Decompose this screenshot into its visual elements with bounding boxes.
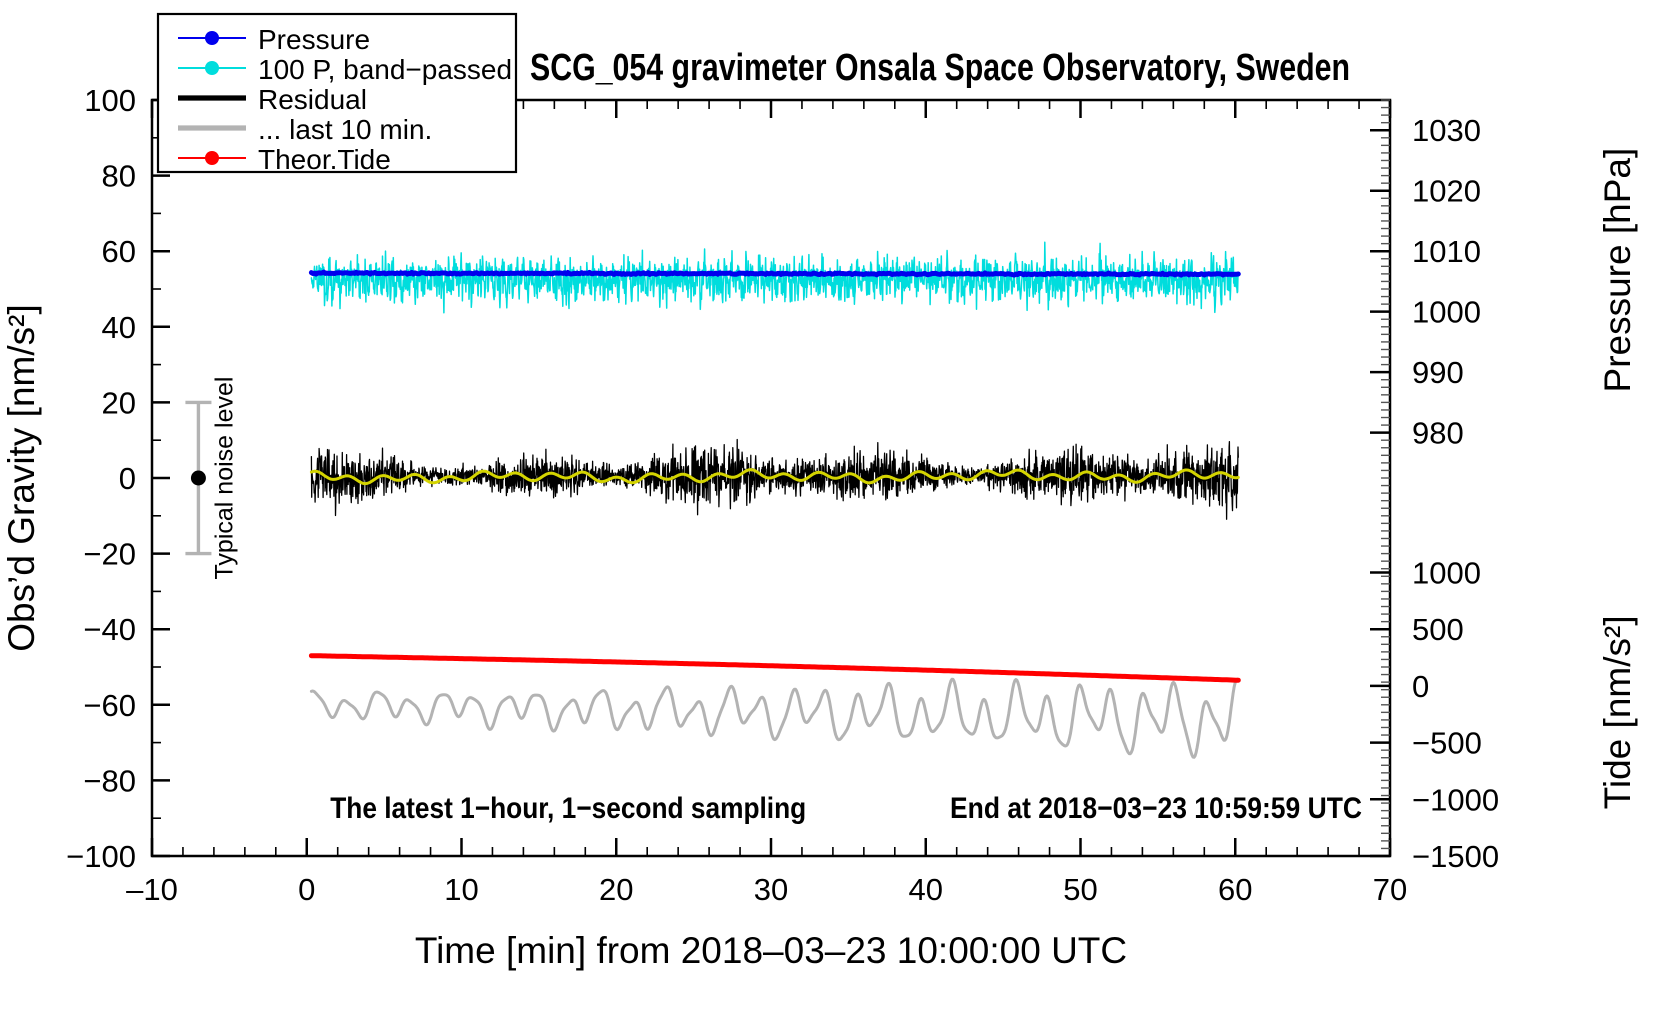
y-tick-label: −40	[83, 612, 136, 647]
noise-level-annotation: Typical noise level	[185, 377, 238, 580]
series-band-passed-pressure	[311, 242, 1238, 313]
y-axis-right: 103010201010100099098010005000−500−1000−…	[1370, 100, 1638, 874]
pressure-axis-label: Pressure [hPa]	[1597, 148, 1638, 393]
y-tick-label: 100	[84, 83, 136, 118]
tide-tick-label: −500	[1412, 726, 1482, 761]
tide-tick-label: −1000	[1412, 782, 1499, 817]
pressure-tick-label: 980	[1412, 416, 1464, 451]
legend-label: 100 P, band−passed	[258, 54, 512, 85]
series-last-10-min	[311, 679, 1238, 757]
x-tick-label: 60	[1218, 872, 1252, 907]
chart-figure: ‒10010203040506070Time [min] from 2018‒0…	[0, 0, 1660, 1020]
y-axis-label: Obs’d Gravity [nm/s²]	[1, 304, 42, 651]
x-tick-label: 30	[754, 872, 788, 907]
tide-tick-label: 1000	[1412, 556, 1481, 591]
y-tick-label: 60	[102, 234, 136, 269]
x-tick-label: 40	[909, 872, 943, 907]
noise-level-marker	[191, 471, 206, 486]
tide-axis-label: Tide [nm/s²]	[1597, 615, 1638, 809]
footnote-right: End at 2018−03−23 10:59:59 UTC	[950, 792, 1362, 825]
tide-tick-label: 0	[1412, 669, 1429, 704]
y-tick-label: −60	[83, 688, 136, 723]
x-tick-label: 20	[599, 872, 633, 907]
legend-label: Residual	[258, 84, 367, 115]
noise-level-label: Typical noise level	[210, 377, 238, 580]
x-tick-label: 70	[1373, 872, 1407, 907]
y-tick-label: 20	[102, 385, 136, 420]
y-tick-label: 0	[119, 461, 136, 496]
y-tick-label: 80	[102, 159, 136, 194]
footnote-left: The latest 1−hour, 1−second sampling	[330, 792, 806, 825]
pressure-tick-label: 1010	[1412, 234, 1481, 269]
y-tick-label: −80	[83, 763, 136, 798]
y-tick-label: −100	[66, 839, 136, 874]
legend-marker	[205, 31, 219, 45]
x-axis-label: Time [min] from 2018‒03‒23 10:00:00 UTC	[415, 930, 1127, 971]
tide-tick-label: 500	[1412, 612, 1464, 647]
gravimeter-timeseries-chart: ‒10010203040506070Time [min] from 2018‒0…	[0, 0, 1660, 1020]
pressure-tick-label: 990	[1412, 355, 1464, 390]
series-pressure	[311, 272, 1238, 275]
legend-label: ... last 10 min.	[258, 114, 432, 145]
legend-marker	[205, 61, 219, 75]
legend: Pressure100 P, band−passedResidual... la…	[158, 14, 516, 175]
x-tick-label: 0	[298, 872, 315, 907]
legend-marker	[205, 151, 219, 165]
y-tick-label: −20	[83, 537, 136, 572]
x-tick-label: 50	[1063, 872, 1097, 907]
legend-label: Theor.Tide	[258, 144, 391, 175]
pressure-tick-label: 1000	[1412, 295, 1481, 330]
x-tick-label: 10	[444, 872, 478, 907]
legend-label: Pressure	[258, 24, 370, 55]
series-theoretical-tide	[311, 656, 1238, 681]
tide-tick-label: −1500	[1412, 839, 1499, 874]
y-axis-left: −100−80−60−40−20020406080100Obs’d Gravit…	[1, 83, 170, 874]
pressure-tick-label: 1020	[1412, 174, 1481, 209]
x-tick-label: ‒10	[126, 872, 178, 907]
chart-title: SCG_054 gravimeter Onsala Space Observat…	[530, 47, 1350, 89]
y-tick-label: 40	[102, 310, 136, 345]
pressure-tick-label: 1030	[1412, 113, 1481, 148]
x-axis: ‒10010203040506070Time [min] from 2018‒0…	[126, 100, 1407, 971]
